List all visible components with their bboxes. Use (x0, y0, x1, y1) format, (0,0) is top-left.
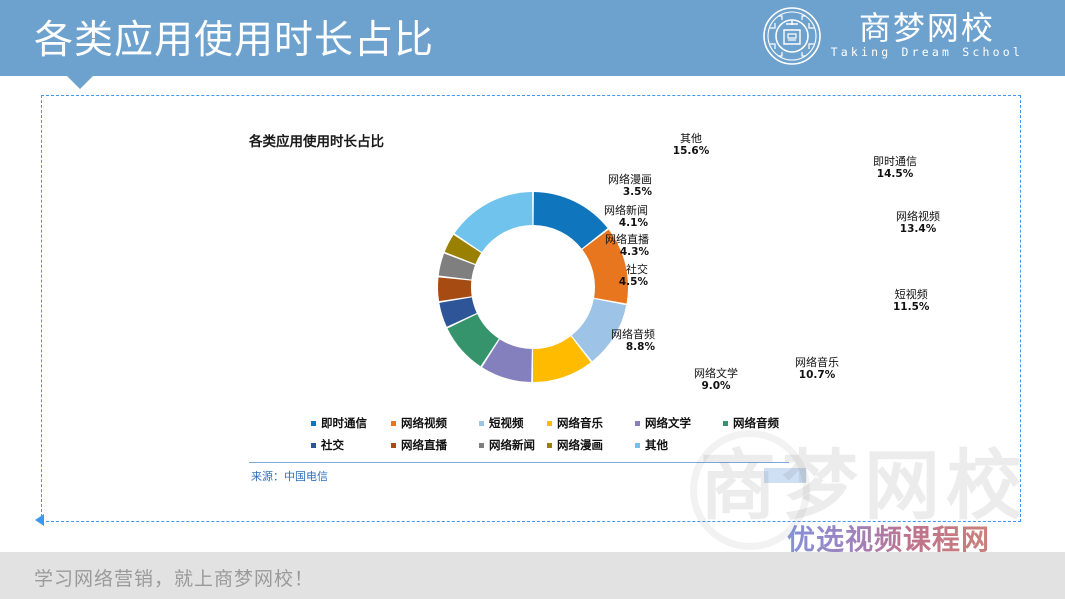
slice-label: 网络漫画3.5% (233, 173, 652, 199)
legend-swatch-icon (723, 421, 728, 426)
slice-label-name: 网络文学 (694, 367, 738, 380)
legend-swatch-icon (391, 443, 396, 448)
source-label: 来源：中国电信 (251, 468, 328, 484)
legend-item[interactable]: 短视频 (479, 415, 524, 431)
frame-arrow-icon (35, 514, 44, 526)
slide-header: 各类应用使用时长占比 商梦网校 Taking Dream School (0, 0, 1065, 76)
slice-label-percent: 9.0% (671, 380, 761, 393)
legend-item[interactable]: 其他 (635, 437, 668, 453)
slice-label: 网络音频8.8% (233, 328, 655, 354)
legend-swatch-icon (311, 421, 316, 426)
legend-swatch-icon (635, 443, 640, 448)
legend-swatch-icon (311, 443, 316, 448)
slice-label-percent: 4.1% (233, 217, 648, 230)
slice-label: 短视频11.5% (893, 288, 929, 314)
legend-item[interactable]: 即时通信 (311, 415, 367, 431)
brand-logo: 商梦网校 Taking Dream School (762, 6, 1023, 66)
slice-label-name: 网络新闻 (604, 204, 648, 217)
slice-label-percent: 3.5% (233, 186, 652, 199)
slice-label: 网络新闻4.1% (233, 204, 648, 230)
legend-label: 网络文学 (645, 415, 691, 431)
legend-label: 网络音频 (733, 415, 779, 431)
legend-swatch-icon (547, 421, 552, 426)
legend-item[interactable]: 社交 (311, 437, 344, 453)
legend-swatch-icon (479, 443, 484, 448)
legend-label: 网络直播 (401, 437, 447, 453)
legend-item[interactable]: 网络新闻 (479, 437, 535, 453)
slice-label-name: 网络视频 (896, 210, 940, 223)
brand-name-cn: 商梦网校 (859, 12, 995, 46)
legend-swatch-icon (547, 443, 552, 448)
legend-label: 社交 (321, 437, 344, 453)
legend-item[interactable]: 网络漫画 (547, 437, 603, 453)
slice-label: 网络音乐10.7% (772, 356, 862, 382)
slice-label: 即时通信14.5% (873, 155, 917, 181)
footer-slogan: 学习网络营销，就上商梦网校！ (34, 564, 314, 591)
slice-label-name: 网络漫画 (608, 173, 652, 186)
slice-label-name: 其他 (680, 132, 702, 145)
slice-label-name: 网络直播 (605, 233, 649, 246)
slice-label-name: 网络音频 (611, 328, 655, 341)
slice-label-percent: 11.5% (893, 301, 929, 314)
legend-label: 网络新闻 (489, 437, 535, 453)
slice-label-percent: 15.6% (646, 145, 736, 158)
slice-label-percent: 10.7% (772, 369, 862, 382)
legend-item[interactable]: 网络文学 (635, 415, 691, 431)
legend-label: 即时通信 (321, 415, 367, 431)
brand-name-en: Taking Dream School (831, 45, 1023, 60)
slide-root: 各类应用使用时长占比 商梦网校 Taking Dream School (0, 0, 1065, 599)
legend-swatch-icon (635, 421, 640, 426)
legend-label: 短视频 (489, 415, 524, 431)
slice-label-percent: 8.8% (233, 341, 655, 354)
legend-label: 网络漫画 (557, 437, 603, 453)
legend-swatch-icon (479, 421, 484, 426)
legend-item[interactable]: 网络直播 (391, 437, 447, 453)
legend-item[interactable]: 网络视频 (391, 415, 447, 431)
slice-label-name: 短视频 (895, 288, 928, 301)
legend-item[interactable]: 网络音频 (723, 415, 779, 431)
donut-chart: 即时通信14.5%网络视频13.4%短视频11.5%网络音乐10.7%网络文学9… (233, 138, 825, 428)
slice-label: 网络直播4.3% (233, 233, 649, 259)
legend-label: 网络音乐 (557, 415, 603, 431)
legend-item[interactable]: 网络音乐 (547, 415, 603, 431)
slice-label: 网络视频13.4% (896, 210, 940, 236)
legend-label: 其他 (645, 437, 668, 453)
slice-label: 社交4.5% (233, 263, 648, 289)
slice-label-percent: 4.5% (233, 276, 648, 289)
slice-label-name: 网络音乐 (795, 356, 839, 369)
legend-swatch-icon (391, 421, 396, 426)
seal-icon (762, 6, 822, 66)
legend-label: 网络视频 (401, 415, 447, 431)
page-title: 各类应用使用时长占比 (34, 9, 434, 65)
slice-label-percent: 14.5% (873, 168, 917, 181)
slice-label-percent: 13.4% (896, 223, 940, 236)
slice-label: 其他15.6% (646, 132, 736, 158)
header-notch-triangle (67, 76, 93, 89)
brand-text: 商梦网校 Taking Dream School (831, 12, 1023, 61)
slice-label-name: 社交 (626, 263, 648, 276)
slice-label-name: 即时通信 (873, 155, 917, 168)
slice-label: 网络文学9.0% (671, 367, 761, 393)
slice-label-percent: 4.3% (233, 246, 649, 259)
